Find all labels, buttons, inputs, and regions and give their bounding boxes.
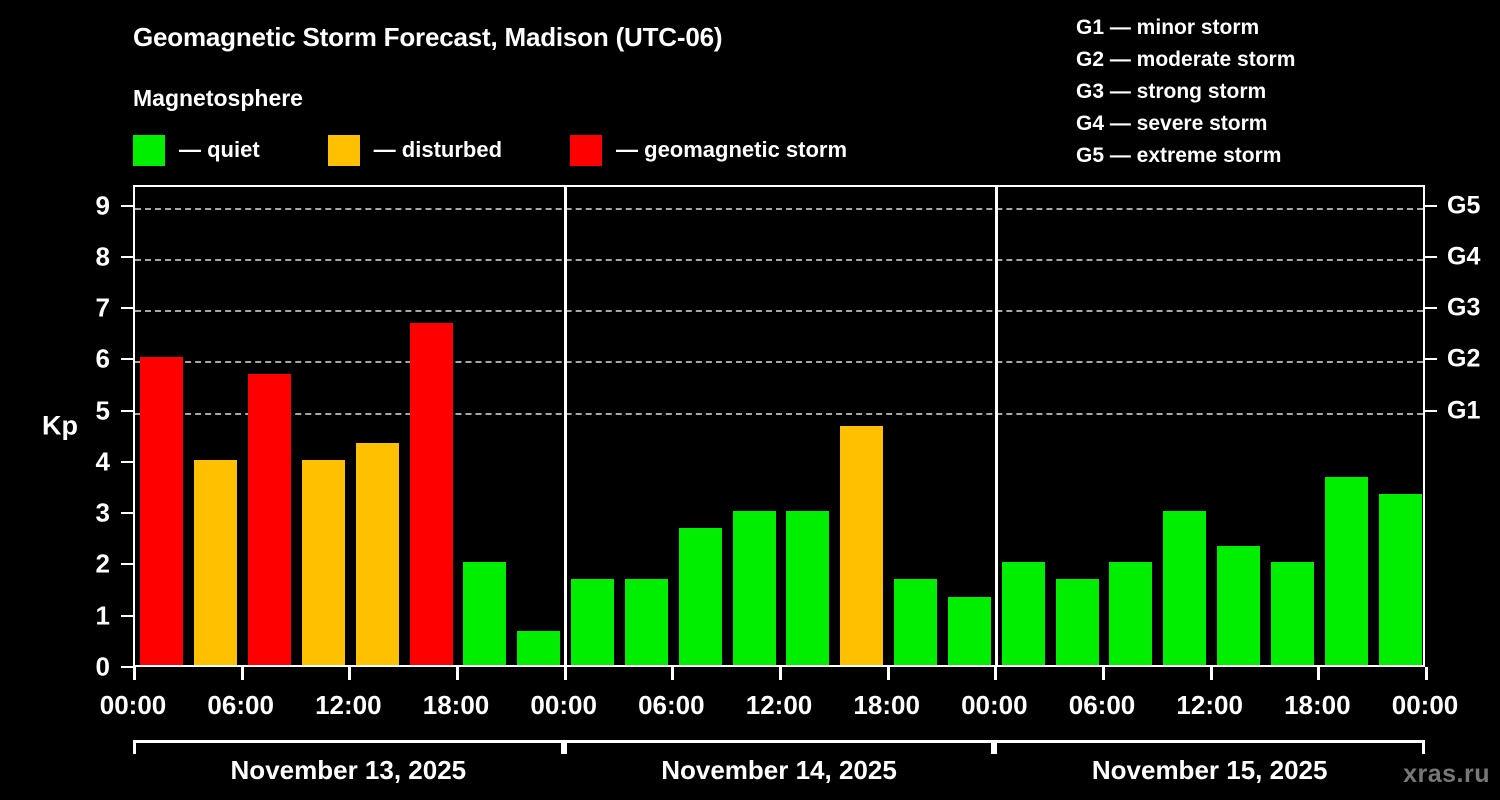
legend-swatch-disturbed-icon: [328, 135, 360, 166]
bar[interactable]: [1217, 546, 1260, 665]
g-tick-mark: [1425, 256, 1437, 258]
y-tick-label-3: 3: [70, 498, 110, 529]
y-tick-label-8: 8: [70, 241, 110, 272]
bar[interactable]: [894, 579, 937, 665]
legend-label-disturbed: — disturbed: [374, 137, 502, 163]
g-tick-mark: [1425, 307, 1437, 309]
x-tick-label: 18:00: [423, 690, 490, 721]
y-tick-mark: [121, 512, 133, 514]
bar[interactable]: [248, 374, 291, 665]
x-tick-label: 00:00: [961, 690, 1028, 721]
y-tick-label-1: 1: [70, 600, 110, 631]
y-tick-label-6: 6: [70, 344, 110, 375]
bar[interactable]: [840, 426, 883, 665]
bar[interactable]: [1271, 562, 1314, 665]
legend-label-quiet: — quiet: [179, 137, 260, 163]
g-tick-label-G3: G3: [1447, 294, 1480, 323]
y-tick-mark: [121, 615, 133, 617]
day-bracket: [133, 740, 564, 754]
x-tick-mark: [1317, 667, 1320, 680]
y-tick-label-4: 4: [70, 446, 110, 477]
y-tick-label-2: 2: [70, 549, 110, 580]
g-tick-mark: [1425, 410, 1437, 412]
x-tick-label: 18:00: [853, 690, 920, 721]
bar[interactable]: [517, 631, 560, 665]
bar[interactable]: [1379, 494, 1422, 665]
g-tick-label-G5: G5: [1447, 191, 1480, 220]
day-bracket: [994, 740, 1425, 754]
section-label: Magnetosphere: [133, 85, 303, 112]
g-tick-label-G2: G2: [1447, 345, 1480, 374]
g-tick-label-G4: G4: [1447, 242, 1480, 271]
bar[interactable]: [140, 357, 183, 665]
y-tick-label-7: 7: [70, 293, 110, 324]
bar[interactable]: [194, 460, 237, 665]
panel-divider: [995, 187, 998, 665]
x-tick-label: 12:00: [315, 690, 382, 721]
chart-root: Geomagnetic Storm Forecast, Madison (UTC…: [0, 0, 1500, 800]
y-tick-label-9: 9: [70, 190, 110, 221]
legend-item-disturbed: — disturbed: [328, 135, 502, 166]
g-scale-row-g3: G3 — strong storm: [1076, 76, 1295, 108]
x-tick-label: 12:00: [746, 690, 813, 721]
bar[interactable]: [463, 562, 506, 665]
x-tick-mark: [456, 667, 459, 680]
y-tick-mark: [121, 563, 133, 565]
x-tick-mark: [348, 667, 351, 680]
g-scale-row-g5: G5 — extreme storm: [1076, 140, 1295, 172]
bar[interactable]: [948, 597, 991, 665]
bar[interactable]: [1109, 562, 1152, 665]
x-tick-mark: [671, 667, 674, 680]
y-tick-mark: [121, 307, 133, 309]
bar[interactable]: [1056, 579, 1099, 665]
x-tick-mark: [1425, 667, 1428, 680]
y-tick-mark: [121, 410, 133, 412]
y-tick-mark: [121, 358, 133, 360]
bar[interactable]: [786, 511, 829, 665]
g-tick-mark: [1425, 358, 1437, 360]
g-tick-mark: [1425, 205, 1437, 207]
bars-layer: [135, 187, 1423, 665]
x-tick-label: 12:00: [1176, 690, 1243, 721]
g-scale-row-g2: G2 — moderate storm: [1076, 44, 1295, 76]
bar[interactable]: [625, 579, 668, 665]
x-tick-mark: [887, 667, 890, 680]
x-tick-label: 00:00: [530, 690, 597, 721]
bar[interactable]: [410, 323, 453, 665]
x-tick-mark: [564, 667, 567, 680]
x-tick-label: 06:00: [1069, 690, 1136, 721]
g-scale-legend: G1 — minor storm G2 — moderate storm G3 …: [1076, 12, 1295, 172]
legend-swatch-quiet-icon: [133, 135, 165, 166]
legend-item-quiet: — quiet: [133, 135, 260, 166]
y-tick-label-0: 0: [70, 652, 110, 683]
x-tick-label: 06:00: [638, 690, 705, 721]
g-scale-row-g1: G1 — minor storm: [1076, 12, 1295, 44]
y-tick-mark: [121, 666, 133, 668]
legend-label-storm: — geomagnetic storm: [616, 137, 847, 163]
bar[interactable]: [679, 528, 722, 665]
bar[interactable]: [1163, 511, 1206, 665]
bar[interactable]: [1325, 477, 1368, 665]
g-scale-row-g4: G4 — severe storm: [1076, 108, 1295, 140]
day-label: November 15, 2025: [1092, 755, 1328, 786]
bar[interactable]: [356, 443, 399, 665]
x-tick-mark: [1102, 667, 1105, 680]
x-tick-mark: [779, 667, 782, 680]
x-tick-mark: [1210, 667, 1213, 680]
x-tick-mark: [133, 667, 136, 680]
plot-area: [133, 185, 1425, 667]
x-tick-label: 18:00: [1284, 690, 1351, 721]
x-tick-label: 00:00: [1392, 690, 1459, 721]
color-legend: — quiet — disturbed — geomagnetic storm: [133, 134, 847, 166]
legend-swatch-storm-icon: [570, 135, 602, 166]
x-tick-label: 06:00: [207, 690, 274, 721]
panel-divider: [564, 187, 567, 665]
g-tick-label-G1: G1: [1447, 396, 1480, 425]
bar[interactable]: [302, 460, 345, 665]
x-tick-label: 00:00: [100, 690, 167, 721]
y-tick-mark: [121, 256, 133, 258]
y-tick-mark: [121, 205, 133, 207]
y-tick-label-5: 5: [70, 395, 110, 426]
day-label: November 14, 2025: [661, 755, 897, 786]
y-tick-mark: [121, 461, 133, 463]
x-tick-mark: [994, 667, 997, 680]
watermark: xras.ru: [1403, 760, 1490, 789]
day-bracket: [564, 740, 995, 754]
bar[interactable]: [571, 579, 614, 665]
x-tick-mark: [241, 667, 244, 680]
page-title: Geomagnetic Storm Forecast, Madison (UTC…: [133, 22, 722, 53]
bar[interactable]: [1002, 562, 1045, 665]
bar[interactable]: [733, 511, 776, 665]
legend-item-storm: — geomagnetic storm: [570, 135, 847, 166]
day-label: November 13, 2025: [231, 755, 467, 786]
